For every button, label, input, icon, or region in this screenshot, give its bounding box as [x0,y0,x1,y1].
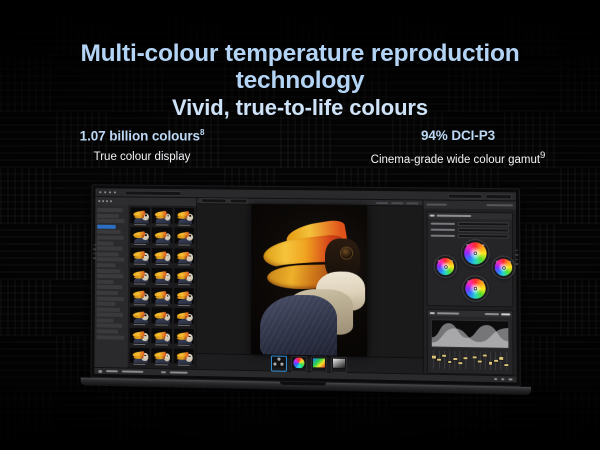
status-icon-3[interactable] [494,378,497,380]
thumbnail-item[interactable] [152,208,172,227]
thumbnail-caption [130,323,150,326]
colour-balance-tool[interactable] [291,356,307,372]
browser-icon-3[interactable] [106,200,108,202]
slider-group-left [432,350,468,369]
thumbnail-caption [152,223,172,226]
panel-title [437,312,459,314]
tool-label [332,368,346,372]
colour-wheel-group [431,240,510,304]
level-slider[interactable] [437,351,441,369]
headline-block: Multi-colour temperature reproduction te… [0,40,600,121]
folder-list-item[interactable] [97,318,114,322]
thumbnail-grid [128,205,196,369]
viewer-canvas[interactable] [197,204,423,357]
viewer-info-1 [376,201,388,203]
level-slider[interactable] [458,351,462,369]
thumbnail-item[interactable] [130,247,150,266]
browser-icon-1[interactable] [98,200,100,202]
thumbnail-item[interactable] [174,328,194,347]
thumbnail-item[interactable] [174,308,194,327]
view-mode-select[interactable] [448,193,483,198]
inspector-tab-colour[interactable] [486,204,513,206]
waveform-graph[interactable] [431,319,510,349]
folder-list-item[interactable] [97,313,123,317]
laptop-device [90,184,521,407]
thumbnail-item[interactable] [152,248,172,267]
thumbnail-item[interactable] [152,228,172,247]
level-slider[interactable] [453,351,457,369]
feature-caption: True colour display [0,151,284,163]
folder-list-item[interactable] [97,213,118,217]
folder-list-item[interactable] [97,285,122,289]
folder-list-item[interactable] [97,335,125,339]
feature-true-colour: 1.07 billion colours8 True colour displa… [0,128,306,166]
folder-list-item[interactable] [97,247,122,251]
status-icon-5[interactable] [508,378,512,380]
window-dot-1[interactable] [99,191,101,193]
thumbnail-item[interactable] [130,267,150,286]
waveform-svg [432,320,509,348]
thumbnail-caption [152,343,172,346]
app-body [94,197,516,375]
shadow-colour-wheel[interactable] [435,256,456,277]
level-slider[interactable] [442,351,446,369]
panel-body [428,316,513,374]
folder-list [94,205,128,368]
feature-footnote: 8 [200,128,204,137]
page-title-line-2: technology [236,67,365,94]
feature-footnote: 9 [540,150,545,161]
thumbnail-caption [174,223,194,226]
hornbill-photo[interactable] [251,205,367,357]
wheel-handle[interactable] [474,252,476,254]
colour-balance-panel [427,212,514,308]
viewer-info-2 [391,202,403,204]
wheel-handle[interactable] [474,288,476,290]
level-slider[interactable] [494,352,498,370]
thumbnail-caption [130,243,150,246]
slider-group-right [473,351,509,370]
level-slider[interactable] [499,352,503,370]
thumbnail-item[interactable] [174,228,194,247]
search-input[interactable] [125,190,182,195]
status-icon [98,369,102,372]
folder-list-item[interactable] [97,241,114,245]
level-slider[interactable] [478,351,482,369]
thumbnail-item[interactable] [174,208,194,227]
thumbnail-item[interactable] [152,308,172,327]
thumbnail-item[interactable] [130,307,150,326]
browser-icon-4[interactable] [110,200,112,202]
level-slider[interactable] [464,351,468,369]
thumbnail-item[interactable] [130,327,150,346]
thumbnail-caption [152,283,172,286]
tool-label [312,368,326,372]
folder-list-item[interactable] [97,302,116,306]
folder-list-item[interactable] [97,263,116,267]
folder-list-item[interactable] [97,307,120,311]
panel-title [437,215,471,217]
status-icon-4[interactable] [501,378,504,380]
level-slider[interactable] [448,351,452,369]
disclosure-icon[interactable] [430,312,435,314]
thumbnail-item[interactable] [152,268,172,287]
wheel-handle[interactable] [502,266,504,268]
level-slider[interactable] [473,351,477,369]
highlight-colour-wheel[interactable] [493,257,515,279]
left-ports [93,244,96,261]
folder-list-item[interactable] [97,291,118,295]
thumbnail-caption [174,243,194,246]
photo-wing [260,294,337,356]
thumbnail-caption [130,303,150,306]
gamut-tool[interactable] [311,356,327,372]
thumbnail-caption [152,364,172,367]
folder-list-item[interactable] [97,329,118,333]
levels-preset-select[interactable] [485,313,499,315]
thumbnail-caption [130,283,150,286]
status-text-count [170,371,188,373]
thumbnail-item[interactable] [174,348,194,367]
folder-list-item[interactable] [97,230,120,234]
levels-panel [427,309,514,375]
thumbnail-item[interactable] [174,248,194,267]
thumbnail-caption [174,283,194,286]
inspector-panel [423,200,517,375]
levels-slider-bank [431,347,510,371]
thumbnail-caption [130,363,150,366]
thumbnail-caption [174,304,194,307]
window-dot-3[interactable] [109,191,111,193]
level-slider[interactable] [489,352,493,370]
page-title-line-1: Multi-colour temperature reproduction [80,40,519,67]
thumbnail-item[interactable] [174,268,194,287]
folder-list-item[interactable] [97,324,122,328]
folder-list-item[interactable] [97,296,125,300]
sort-select[interactable] [485,194,512,199]
level-slider[interactable] [505,352,509,370]
status-text-session [106,370,118,372]
thumbnail-caption [174,324,194,327]
thumbnail-item[interactable] [152,348,172,367]
image-viewer-panel [197,198,423,373]
thumbnail-caption [152,243,172,246]
thumbnail-caption [130,343,150,346]
folder-list-item[interactable] [97,208,122,212]
param-row[interactable] [431,228,509,233]
photo-eye [342,248,352,259]
feature-value: 94% DCI-P3 [316,128,600,143]
folder-list-item[interactable] [97,258,125,262]
thumbnail-item[interactable] [130,227,150,246]
trackpad-notch [280,382,326,386]
midtone-colour-wheel[interactable] [462,240,489,267]
folder-list-item[interactable] [97,274,123,278]
folder-list-item[interactable] [97,252,118,256]
thumbnail-item[interactable] [130,348,150,367]
inspector-tab-basic[interactable] [427,203,447,205]
browser-split [94,205,196,369]
master-colour-wheel[interactable] [463,276,488,301]
levels-auto-button[interactable] [501,313,510,315]
folder-list-item[interactable] [97,224,116,228]
window-dot-2[interactable] [104,191,106,193]
folder-list-item[interactable] [97,219,124,223]
thumbnail-caption [174,364,194,367]
page-subtitle: Vivid, true-to-life colours [0,95,600,121]
thumbnail-caption [130,263,150,266]
wheel-handle[interactable] [444,265,446,267]
browser-icon-2[interactable] [102,200,104,202]
photo-editing-app [94,188,516,382]
zoom-select[interactable] [230,198,248,203]
folder-list-item[interactable] [97,280,114,284]
param-row[interactable] [431,222,509,227]
level-slider[interactable] [483,351,487,369]
page-title: Multi-colour temperature reproduction te… [0,40,600,94]
gamut-gradient-icon [313,358,325,367]
right-ports [515,250,518,268]
colour-editor-tool[interactable] [271,355,287,371]
status-icon-2 [161,371,166,373]
thumbnail-item[interactable] [152,288,172,307]
disclosure-icon[interactable] [430,215,435,217]
status-text-filename [122,370,144,372]
folder-list-item[interactable] [97,235,123,239]
thumbnail-caption [152,323,172,326]
thumbnail-item[interactable] [130,207,150,226]
window-dot-4[interactable] [114,191,116,193]
thumbnail-caption [152,263,172,266]
feature-value: 1.07 billion colours8 [0,128,284,144]
tool-label [292,367,306,371]
feature-stats-row: 1.07 billion colours8 True colour displa… [0,128,600,166]
viewer-info-3 [406,202,418,204]
thumbnail-item[interactable] [174,288,194,307]
thumbnail-item[interactable] [152,328,172,347]
level-slider[interactable] [432,350,436,368]
library-browser-panel [94,197,197,369]
grayscale-gradient-icon [333,359,345,368]
feature-dci-p3: 94% DCI-P3 Cinema-grade wide colour gamu… [306,128,600,166]
thumbnail-caption [174,263,194,266]
tool-select[interactable] [201,198,227,203]
folder-list-item[interactable] [97,269,120,273]
curve-tool[interactable] [331,357,347,373]
thumbnail-item[interactable] [130,287,150,306]
tool-label [272,367,286,371]
laptop-screen-bezel [90,184,520,386]
panel-body [428,219,513,307]
thumbnail-caption [152,303,172,306]
thumbnail-caption [174,344,194,347]
feature-caption: Cinema-grade wide colour gamut9 [316,150,600,166]
thumbnail-caption [130,223,150,226]
inspector-scroll[interactable] [424,208,517,375]
